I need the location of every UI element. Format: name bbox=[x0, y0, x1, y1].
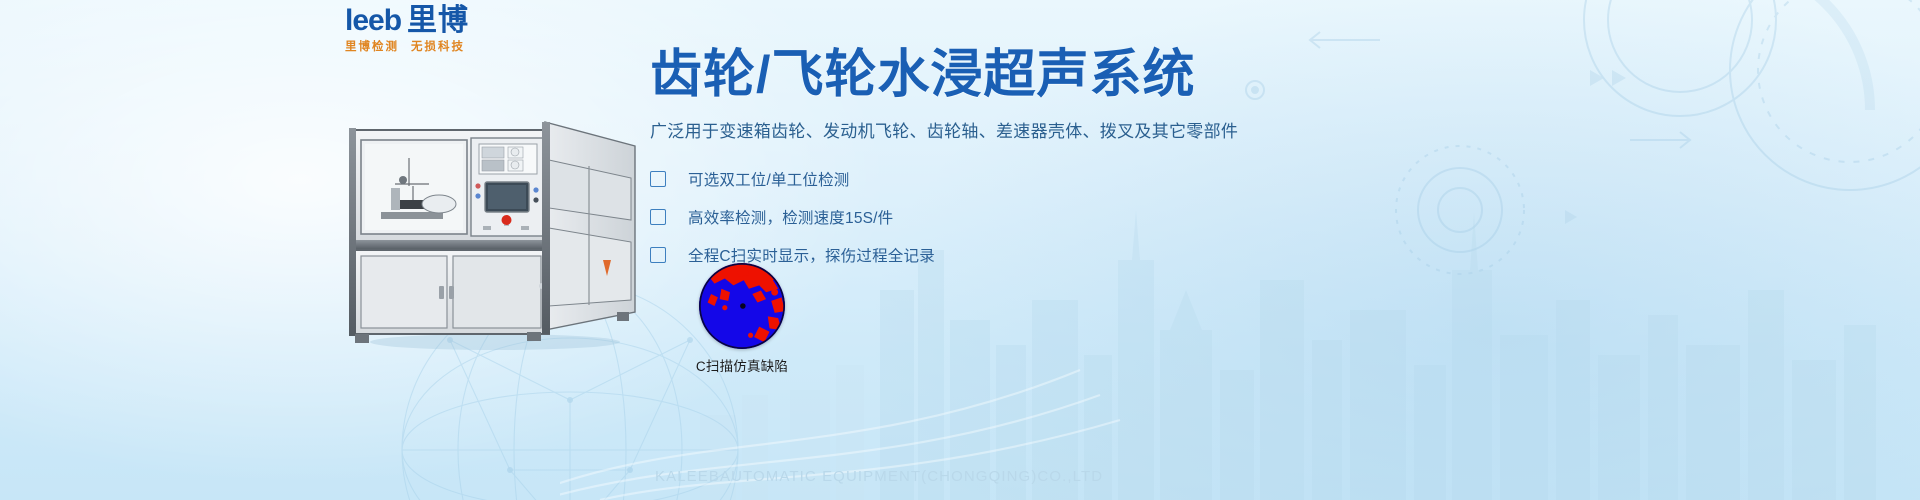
ultrasonic-machine-photo bbox=[335, 100, 655, 350]
logo-wordmark: leeb里博 bbox=[345, 6, 575, 36]
list-item: 高效率检测，检测速度15S/件 bbox=[650, 200, 1270, 234]
cscan-figure: C扫描仿真缺陷 bbox=[672, 263, 812, 378]
banner-content: 齿轮/飞轮水浸超声系统 广泛用于变速箱齿轮、发动机飞轮、齿轮轴、差速器壳体、拨叉… bbox=[650, 45, 1270, 276]
cscan-defect-map bbox=[699, 263, 785, 349]
checkbox-icon bbox=[650, 171, 666, 187]
logo-chinese-text: 里博 bbox=[407, 4, 469, 37]
feature-label: 高效率检测，检测速度15S/件 bbox=[688, 206, 893, 228]
list-item: 可选双工位/单工位检测 bbox=[650, 162, 1270, 196]
page-subtitle: 广泛用于变速箱齿轮、发动机飞轮、齿轮轴、差速器壳体、拨叉及其它零部件 bbox=[650, 119, 1270, 145]
promo-banner: leeb里博 里博检测无损科技 bbox=[0, 0, 1920, 500]
feature-label: 可选双工位/单工位检测 bbox=[688, 168, 850, 190]
cscan-image bbox=[699, 263, 785, 349]
page-title: 齿轮/飞轮水浸超声系统 bbox=[650, 45, 1270, 105]
cscan-caption: C扫描仿真缺陷 bbox=[672, 355, 812, 375]
logo-tagline: 里博检测无损科技 bbox=[345, 38, 575, 54]
logo-tagline-left: 里博检测 bbox=[345, 41, 399, 53]
logo-tagline-right: 无损科技 bbox=[411, 41, 465, 53]
checkbox-icon bbox=[650, 209, 666, 225]
brand-logo: leeb里博 里博检测无损科技 bbox=[345, 6, 575, 52]
company-watermark: KALEEBAUTOMATIC EQUIPMENT(CHONGQING)CO.,… bbox=[655, 468, 1295, 485]
logo-latin-text: leeb bbox=[345, 4, 401, 37]
feature-list: 可选双工位/单工位检测 高效率检测，检测速度15S/件 全程C扫实时显示，探伤过… bbox=[650, 162, 1270, 272]
checkbox-icon bbox=[650, 247, 666, 263]
